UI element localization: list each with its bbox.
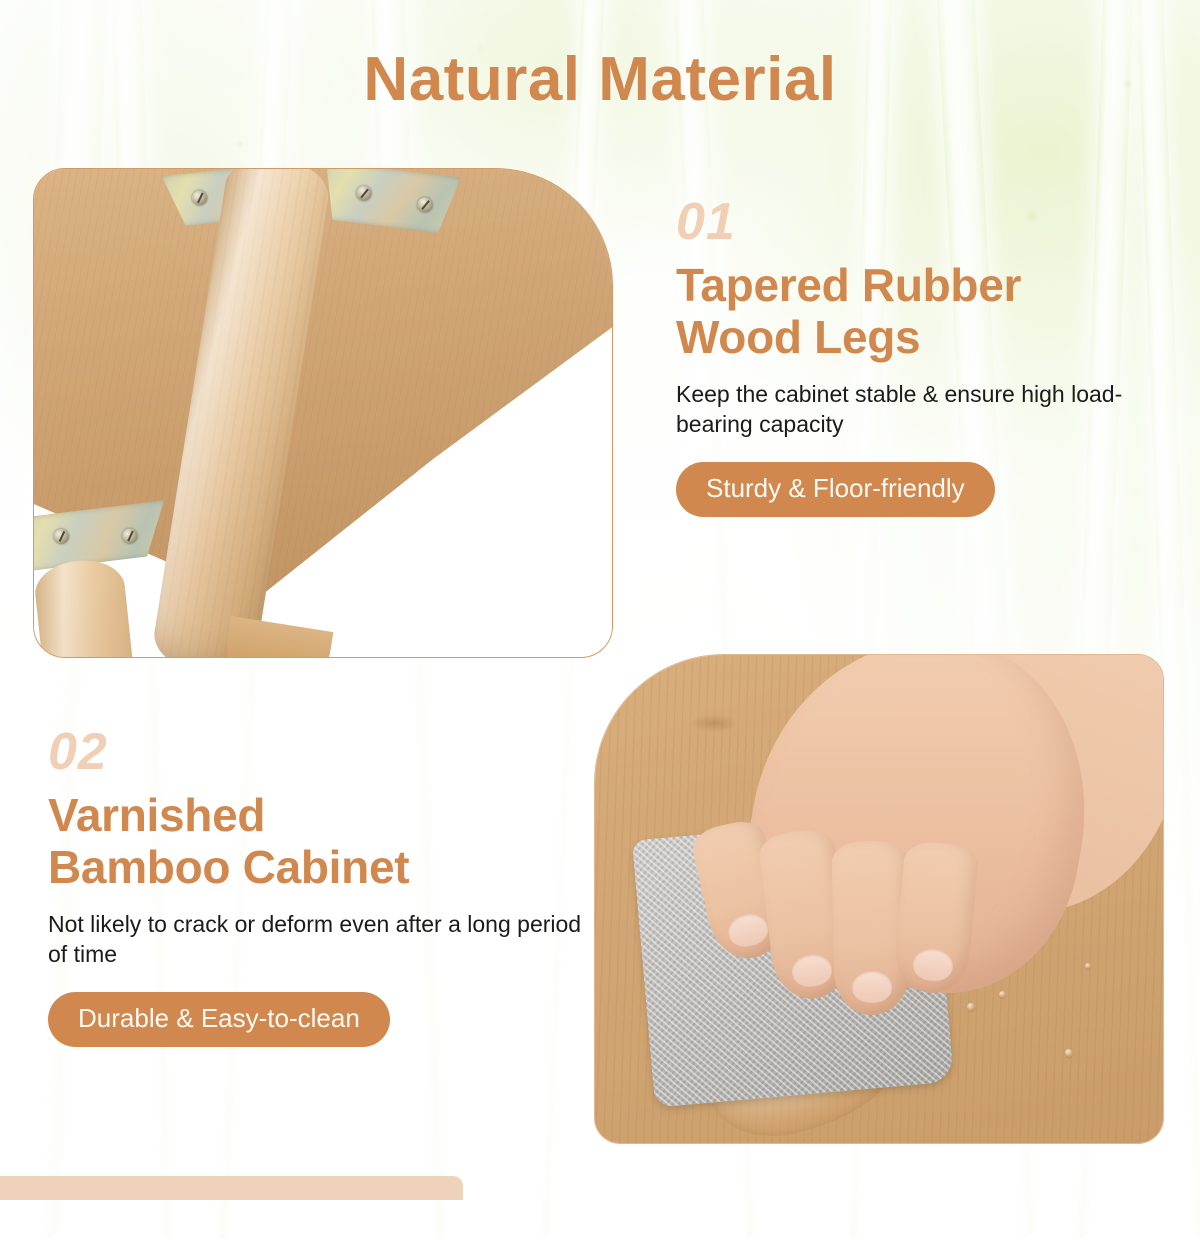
tapered-wood-legs-photo xyxy=(33,168,613,658)
step-heading-line1: Varnished xyxy=(48,790,588,842)
fingernail xyxy=(852,971,893,1004)
screw-icon xyxy=(53,528,70,545)
step-heading-line2: Bamboo Cabinet xyxy=(48,842,588,894)
fingernail xyxy=(790,952,834,989)
screw-icon xyxy=(191,190,207,206)
wood-leg-tip xyxy=(219,616,333,658)
wiping-bamboo-surface-photo xyxy=(594,654,1164,1144)
screw-icon xyxy=(356,185,373,202)
step-description: Not likely to crack or deform even after… xyxy=(48,910,588,970)
status-badge: Sturdy & Floor-friendly xyxy=(676,462,995,517)
water-droplet xyxy=(999,991,1006,998)
status-badge: Durable & Easy-to-clean xyxy=(48,992,390,1047)
feature-section-02: 02 Varnished Bamboo Cabinet Not likely t… xyxy=(48,726,588,1047)
step-number: 02 xyxy=(48,726,588,778)
fingernail xyxy=(912,947,955,982)
photo-artwork xyxy=(34,169,612,657)
water-droplet xyxy=(1065,1049,1073,1057)
step-number: 01 xyxy=(676,196,1176,248)
fingernail xyxy=(725,910,771,950)
secondary-wood-leg xyxy=(33,556,152,658)
step-heading-line2: Wood Legs xyxy=(676,312,1176,364)
step-heading: Varnished Bamboo Cabinet xyxy=(48,790,588,894)
screw-icon xyxy=(121,528,138,545)
feature-section-01: 01 Tapered Rubber Wood Legs Keep the cab… xyxy=(676,196,1176,517)
photo-artwork xyxy=(595,655,1163,1143)
step-heading: Tapered Rubber Wood Legs xyxy=(676,260,1176,364)
step-description: Keep the cabinet stable & ensure high lo… xyxy=(676,380,1176,440)
step-heading-line1: Tapered Rubber xyxy=(676,260,1176,312)
bottom-accent-bar xyxy=(0,1176,463,1200)
water-droplet xyxy=(1085,963,1091,969)
screw-icon xyxy=(417,196,434,213)
water-droplet xyxy=(967,1003,975,1011)
page-title: Natural Material xyxy=(0,44,1200,115)
